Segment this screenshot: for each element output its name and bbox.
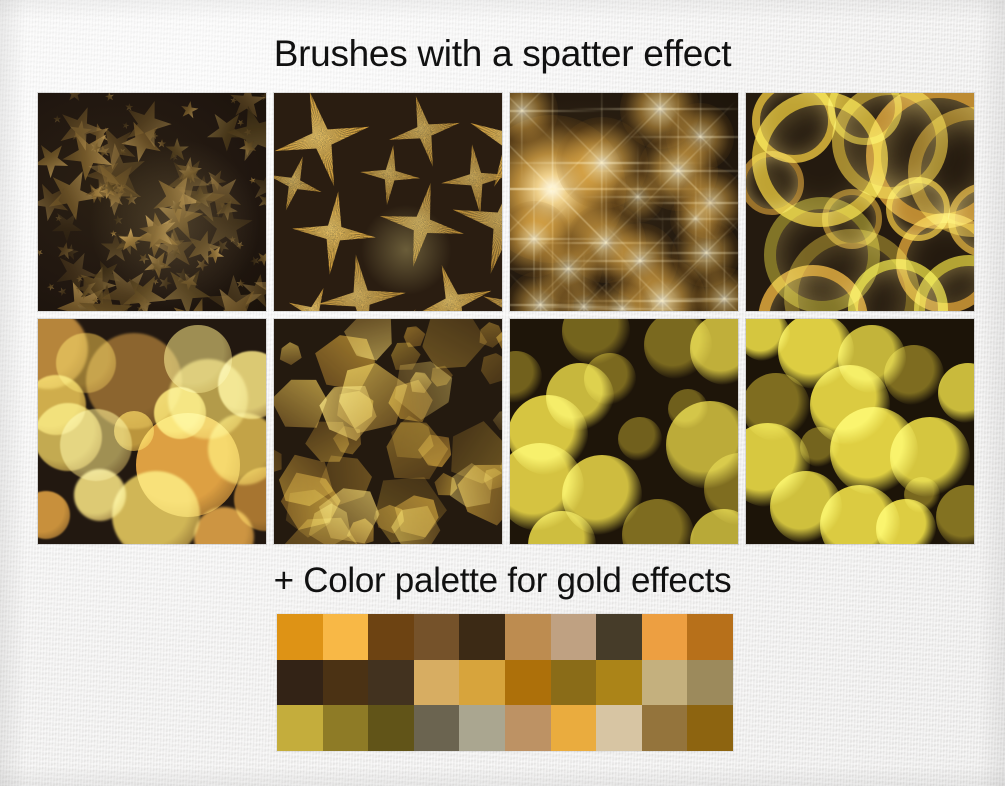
palette-swatch[interactable]: [505, 660, 551, 706]
flare-ray-horizontal: [628, 252, 738, 254]
flare-ray-vertical: [583, 248, 584, 311]
palette-title: + Color palette for gold effects: [0, 561, 1005, 601]
sparkle-center-glow: [274, 93, 502, 311]
palette-swatch[interactable]: [687, 614, 733, 660]
flare-ray-vertical: [661, 209, 662, 311]
brush-tile-scattered-stars[interactable]: [38, 93, 266, 311]
palette-swatch[interactable]: [277, 614, 323, 660]
palette-swatch[interactable]: [368, 705, 414, 751]
brush-tile-polygon-bokeh[interactable]: [274, 319, 502, 544]
palette-swatch[interactable]: [459, 705, 505, 751]
bokeh-circle-art: [38, 319, 266, 544]
flare-ray-vertical: [539, 234, 540, 311]
star-glow-overlay: [38, 93, 266, 311]
page-title: Brushes with a spatter effect: [0, 33, 1005, 75]
palette-swatch[interactable]: [505, 614, 551, 660]
palette-swatch[interactable]: [323, 614, 369, 660]
scattered-stars-art: [38, 93, 266, 311]
speckled-circle: [884, 345, 944, 405]
brush-tile-bubble-rings[interactable]: [746, 93, 974, 311]
bokeh-circle: [38, 491, 70, 539]
palette-swatch[interactable]: [687, 705, 733, 751]
palette-swatch[interactable]: [596, 660, 642, 706]
brush-tile-speckled-circles[interactable]: [510, 319, 738, 544]
flare-ray-vertical: [621, 246, 622, 311]
palette-swatch[interactable]: [596, 705, 642, 751]
speckled-circle: [510, 351, 542, 403]
polygon-bokeh-shape: [480, 353, 502, 386]
palette-swatch[interactable]: [414, 614, 460, 660]
brush-tile-bokeh-circles[interactable]: [38, 319, 266, 544]
bokeh-circle: [74, 469, 126, 521]
polygon-bokeh-art: [274, 319, 502, 544]
flare-ray-horizontal: [636, 218, 738, 220]
light-flare: [612, 171, 664, 223]
palette-swatch[interactable]: [505, 705, 551, 751]
palette-swatch[interactable]: [459, 614, 505, 660]
palette-swatch[interactable]: [368, 614, 414, 660]
bokeh-circle: [114, 411, 154, 451]
palette-swatch[interactable]: [551, 614, 597, 660]
palette-swatch[interactable]: [368, 660, 414, 706]
palette-swatch[interactable]: [459, 660, 505, 706]
bubble-ring: [886, 177, 950, 241]
palette-swatch[interactable]: [414, 705, 460, 751]
palette-swatch[interactable]: [642, 705, 688, 751]
bubble-ring-art: [746, 93, 974, 311]
polygon-bokeh-shape: [274, 338, 307, 371]
speckled-circle-art: [510, 319, 738, 544]
speckled-circle: [690, 509, 738, 544]
speckled-circle: [904, 477, 940, 513]
bubble-ring: [822, 189, 882, 249]
speckled-circle: [618, 417, 662, 461]
light-flare-art: [510, 93, 738, 311]
palette-swatch[interactable]: [596, 614, 642, 660]
glitter-circle-art: [746, 319, 974, 544]
palette-swatch[interactable]: [642, 614, 688, 660]
palette-swatch[interactable]: [551, 660, 597, 706]
palette-swatch[interactable]: [323, 705, 369, 751]
palette-swatch[interactable]: [277, 705, 323, 751]
light-flare: [692, 267, 738, 311]
palette-swatch[interactable]: [323, 660, 369, 706]
speckled-circle: [690, 319, 738, 385]
light-flare: [510, 93, 558, 147]
bokeh-circle: [154, 387, 206, 439]
brush-tile-light-flares[interactable]: [510, 93, 738, 311]
brush-preview-grid: [38, 93, 966, 544]
poster-page: Brushes with a spatter effect: [0, 0, 1005, 786]
brush-tile-four-point-sparkles[interactable]: [274, 93, 502, 311]
four-point-sparkle-art: [274, 93, 502, 311]
color-palette-grid: [277, 614, 733, 751]
brush-tile-glitter-circles[interactable]: [746, 319, 974, 544]
light-flare: [556, 279, 612, 311]
palette-swatch[interactable]: [277, 660, 323, 706]
palette-swatch[interactable]: [414, 660, 460, 706]
palette-swatch[interactable]: [687, 660, 733, 706]
palette-swatch[interactable]: [642, 660, 688, 706]
speckled-circle: [800, 427, 840, 467]
palette-swatch[interactable]: [551, 705, 597, 751]
light-flare: [670, 193, 722, 245]
speckled-circle: [668, 389, 708, 429]
